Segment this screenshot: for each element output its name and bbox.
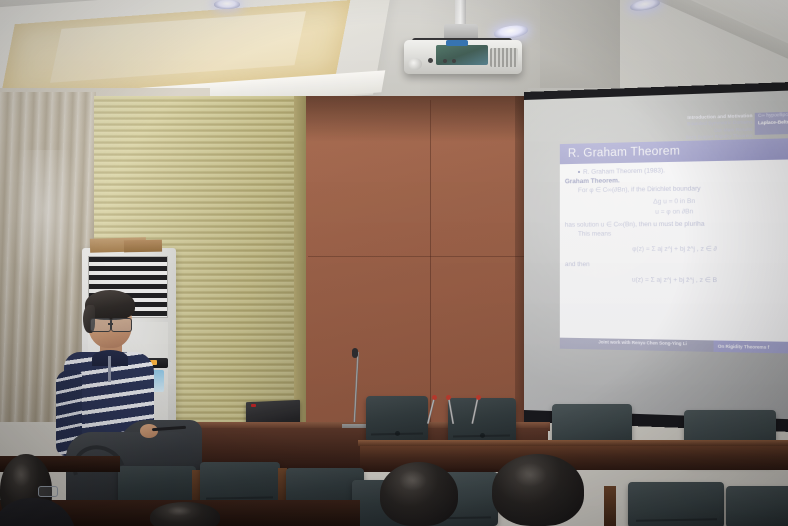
panel-wall-seam <box>430 100 431 436</box>
projector-port <box>428 58 433 63</box>
hair-highlight <box>12 463 31 487</box>
conference-chair[interactable] <box>448 398 516 444</box>
auditorium-seat[interactable] <box>628 482 724 526</box>
conference-chair[interactable] <box>366 396 428 442</box>
audience-head <box>150 502 220 526</box>
hair-highlight <box>514 463 547 487</box>
projector-port <box>443 59 447 63</box>
speaker-zipper <box>108 356 111 382</box>
projection-screen: Introduction and Motivation Bounded Symm… <box>524 82 788 433</box>
bench-railing-top <box>358 440 788 446</box>
speaker-hand <box>140 424 158 438</box>
microphone-icon <box>352 348 358 358</box>
chair-crease <box>453 434 510 436</box>
laptop-logo <box>251 404 256 407</box>
chair-crease <box>636 518 717 521</box>
chair-crease <box>371 432 423 434</box>
hair-highlight <box>399 470 427 492</box>
microphone-tip <box>446 395 451 400</box>
eyeglasses-icon <box>90 318 111 332</box>
eyeglasses-bridge <box>108 323 113 325</box>
projector-port <box>452 59 456 63</box>
projector-vent <box>490 48 518 67</box>
lecture-hall-photo: Introduction and Motivation Bounded Symm… <box>0 0 788 526</box>
eyeglasses-icon <box>38 486 58 497</box>
screen-glare <box>524 90 788 419</box>
eyeglasses-icon <box>111 318 132 332</box>
downlight-icon <box>214 0 240 9</box>
panel-wall-seam <box>308 256 540 257</box>
projector-blue-marking <box>446 40 468 46</box>
curtain-highlight <box>8 150 80 300</box>
microphone-tip <box>476 395 481 400</box>
hair-highlight <box>167 506 192 516</box>
chair-crease <box>206 496 273 499</box>
seat-armrest <box>604 486 616 526</box>
auditorium-seat[interactable] <box>726 486 788 526</box>
panel-wall-top-shadow <box>306 96 540 142</box>
panel-wall <box>306 96 540 436</box>
audience-head <box>492 454 584 526</box>
microphone-tip <box>432 395 437 400</box>
audience-head <box>380 462 458 526</box>
projector-lens <box>408 58 422 70</box>
cardboard-box-on-ac <box>124 240 162 253</box>
